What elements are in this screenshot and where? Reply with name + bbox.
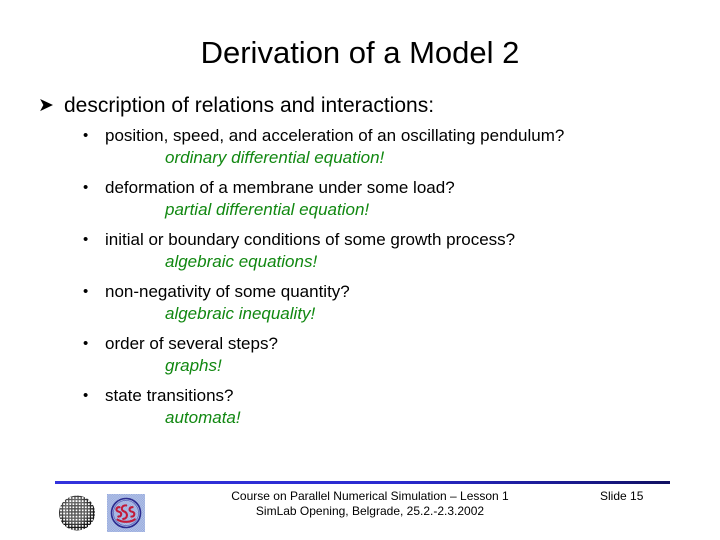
question-line: • deformation of a membrane under some l… xyxy=(0,177,720,199)
dot-bullet-icon: • xyxy=(83,281,88,303)
level1-bullet-label: description of relations and interaction… xyxy=(40,92,434,119)
footer-course-line-2: SimLab Opening, Belgrade, 25.2.-2.3.2002 xyxy=(155,504,585,519)
slide-canvas: Derivation of a Model 2 ➤ description of… xyxy=(0,0,720,540)
list-item: • deformation of a membrane under some l… xyxy=(0,177,720,221)
question-line: • position, speed, and acceleration of a… xyxy=(0,125,720,147)
question-label: deformation of a membrane under some loa… xyxy=(105,178,455,197)
list-item: • initial or boundary conditions of some… xyxy=(0,229,720,273)
question-label: position, speed, and acceleration of an … xyxy=(105,126,564,145)
page-title: Derivation of a Model 2 xyxy=(0,34,720,72)
list-item: • position, speed, and acceleration of a… xyxy=(0,125,720,169)
footer-course-line-1: Course on Parallel Numerical Simulation … xyxy=(155,489,585,504)
dot-bullet-icon: • xyxy=(83,125,88,147)
question-line: • non-negativity of some quantity? xyxy=(0,281,720,303)
list-item: • non-negativity of some quantity? algeb… xyxy=(0,281,720,325)
answer-label: algebraic equations! xyxy=(0,251,720,273)
list-item: • state transitions? automata! xyxy=(0,385,720,429)
arrow-bullet-icon: ➤ xyxy=(38,92,54,119)
footer-divider-rule xyxy=(55,481,670,484)
answer-label: automata! xyxy=(0,407,720,429)
level1-bullet-item: ➤ description of relations and interacti… xyxy=(0,92,720,119)
dot-bullet-icon: • xyxy=(83,333,88,355)
question-label: initial or boundary conditions of some g… xyxy=(105,230,515,249)
dot-bullet-icon: • xyxy=(83,385,88,407)
answer-label: partial differential equation! xyxy=(0,199,720,221)
slide-number-label: Slide 15 xyxy=(600,489,690,504)
question-label: state transitions? xyxy=(105,386,234,405)
slide-body: ➤ description of relations and interacti… xyxy=(0,92,720,472)
footer-course-info: Course on Parallel Numerical Simulation … xyxy=(155,489,585,519)
question-line: • initial or boundary conditions of some… xyxy=(0,229,720,251)
dot-bullet-icon: • xyxy=(83,229,88,251)
list-item: • order of several steps? graphs! xyxy=(0,333,720,377)
question-line: • order of several steps? xyxy=(0,333,720,355)
dot-bullet-icon: • xyxy=(83,177,88,199)
answer-label: algebraic inequality! xyxy=(0,303,720,325)
question-label: non-negativity of some quantity? xyxy=(105,282,350,301)
question-line: • state transitions? xyxy=(0,385,720,407)
slide-footer: Course on Parallel Numerical Simulation … xyxy=(0,489,720,540)
question-label: order of several steps? xyxy=(105,334,278,353)
answer-label: ordinary differential equation! xyxy=(0,147,720,169)
answer-label: graphs! xyxy=(0,355,720,377)
